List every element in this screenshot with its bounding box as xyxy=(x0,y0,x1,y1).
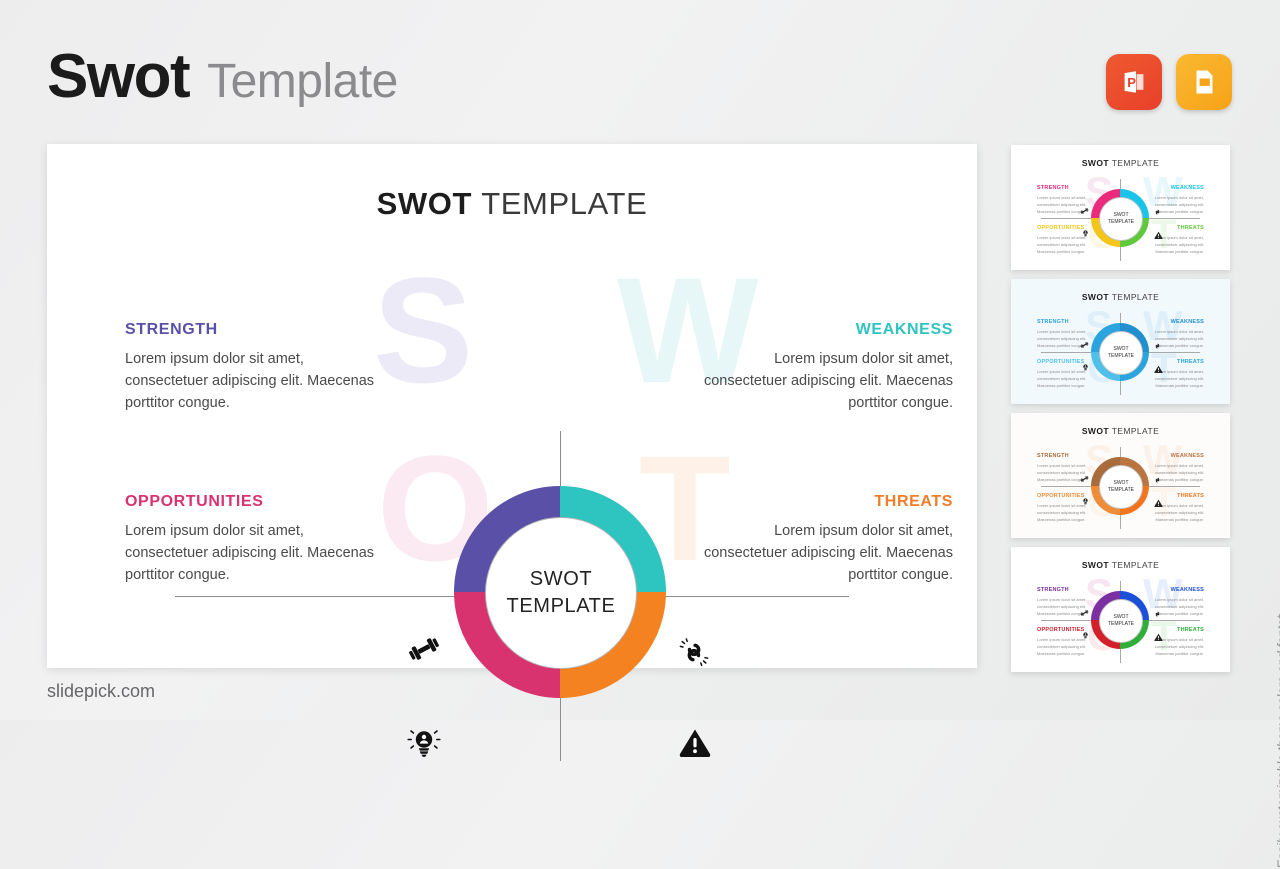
thumbnail-quadrant: WEAKNESSLorem ipsum dolor sit amet, cons… xyxy=(1142,453,1204,483)
thumbnail-quadrant-heading: STRENGTH xyxy=(1037,319,1099,325)
format-icon-group: P xyxy=(1106,54,1232,110)
thumbnail-quadrant-heading: WEAKNESS xyxy=(1142,185,1204,191)
thumbnail-quadrant-heading: STRENGTH xyxy=(1037,185,1099,191)
thumbnail-title: SWOT TEMPLATE xyxy=(1011,560,1230,570)
thumbnail-title-light: TEMPLATE xyxy=(1112,560,1159,570)
thumbnail-icon-w xyxy=(1153,471,1162,489)
page-subtitle: Template xyxy=(207,58,398,106)
quadrant-threats-body: Lorem ipsum dolor sit amet, consectetuer… xyxy=(703,521,953,586)
donut-center-line-1: SWOT xyxy=(530,566,592,593)
thumbnail-slide[interactable]: SWOT TEMPLATESWOTSWOTTEMPLATESTRENGTHLor… xyxy=(1011,145,1230,270)
thumbnail-quadrant-body: Lorem ipsum dolor sit amet, consectetuer… xyxy=(1142,234,1204,255)
thumbnail-quadrant: THREATSLorem ipsum dolor sit amet, conse… xyxy=(1142,225,1204,255)
thumbnail-icon-w xyxy=(1153,337,1162,355)
thumbnail-quadrant-body: Lorem ipsum dolor sit amet, consectetuer… xyxy=(1142,462,1204,483)
thumbnail-donut-label: SWOTTEMPLATE xyxy=(1099,197,1143,241)
thumbnail-title-bold: SWOT xyxy=(1082,560,1109,570)
thumbnail-quadrant: STRENGTHLorem ipsum dolor sit amet, cons… xyxy=(1037,453,1099,483)
thumbnail-donut: SWOTTEMPLATE xyxy=(1091,591,1149,649)
thumbnail-quadrant-body: Lorem ipsum dolor sit amet, consectetuer… xyxy=(1142,636,1204,657)
quadrant-opportunities: OPPORTUNITIES Lorem ipsum dolor sit amet… xyxy=(125,493,375,586)
thumbnail-icon-t xyxy=(1154,226,1163,244)
thumbnail-title-light: TEMPLATE xyxy=(1112,158,1159,168)
thumbnail-quadrant-heading: THREATS xyxy=(1142,493,1204,499)
quadrant-opportunities-heading: OPPORTUNITIES xyxy=(125,493,375,511)
page-header: Swot Template xyxy=(47,46,398,108)
thumbnail-title-bold: SWOT xyxy=(1082,292,1109,302)
thumbnail-quadrant: STRENGTHLorem ipsum dolor sit amet, cons… xyxy=(1037,185,1099,215)
thumbnail-donut: SWOTTEMPLATE xyxy=(1091,323,1149,381)
thumbnail-icon-t xyxy=(1154,494,1163,512)
dumbbell-icon xyxy=(407,634,441,669)
quadrant-threats-heading: THREATS xyxy=(703,493,953,511)
thumbnail-quadrant-body: Lorem ipsum dolor sit amet, consectetuer… xyxy=(1037,596,1099,617)
thumbnail-quadrant-heading: THREATS xyxy=(1142,627,1204,633)
thumbnail-quadrant-heading: THREATS xyxy=(1142,225,1204,231)
customization-note: Easily customizable theme colors and fon… xyxy=(1274,614,1280,868)
thumbnail-slide[interactable]: SWOT TEMPLATESWOTSWOTTEMPLATESTRENGTHLor… xyxy=(1011,547,1230,672)
thumbnail-icon-s xyxy=(1080,336,1089,354)
thumbnail-quadrant-body: Lorem ipsum dolor sit amet, consectetuer… xyxy=(1142,328,1204,349)
thumbnail-quadrant-heading: STRENGTH xyxy=(1037,453,1099,459)
thumbnail-quadrant-body: Lorem ipsum dolor sit amet, consectetuer… xyxy=(1037,328,1099,349)
thumbnail-icon-o xyxy=(1081,225,1090,243)
quadrant-strength: STRENGTH Lorem ipsum dolor sit amet, con… xyxy=(125,321,375,414)
thumbnail-slide[interactable]: SWOT TEMPLATESWOTSWOTTEMPLATESTRENGTHLor… xyxy=(1011,279,1230,404)
thumbnail-quadrant-heading: WEAKNESS xyxy=(1142,319,1204,325)
main-slide-preview[interactable]: SWOT TEMPLATE S W O T SWOT TEMPLATE xyxy=(47,144,977,668)
thumbnail-title-bold: SWOT xyxy=(1082,158,1109,168)
thumbnail-slide[interactable]: SWOT TEMPLATESWOTSWOTTEMPLATESTRENGTHLor… xyxy=(1011,413,1230,538)
thumbnail-icon-w xyxy=(1153,203,1162,221)
thumbnail-quadrant: THREATSLorem ipsum dolor sit amet, conse… xyxy=(1142,493,1204,523)
site-footer: slidepick.com xyxy=(47,681,155,702)
slide-title: SWOT TEMPLATE xyxy=(47,186,977,222)
thumbnail-icon-o xyxy=(1081,627,1090,645)
thumbnail-quadrant: WEAKNESSLorem ipsum dolor sit amet, cons… xyxy=(1142,185,1204,215)
svg-text:P: P xyxy=(1127,75,1136,90)
google-slides-icon[interactable] xyxy=(1176,54,1232,110)
quadrant-threats: THREATS Lorem ipsum dolor sit amet, cons… xyxy=(703,493,953,586)
thumbnail-title-light: TEMPLATE xyxy=(1112,426,1159,436)
quadrant-strength-heading: STRENGTH xyxy=(125,321,375,339)
thumbnail-quadrant-body: Lorem ipsum dolor sit amet, consectetuer… xyxy=(1142,194,1204,215)
quadrant-weakness: WEAKNESS Lorem ipsum dolor sit amet, con… xyxy=(703,321,953,414)
swot-donut-chart: SWOT TEMPLATE xyxy=(454,486,666,698)
swot-diagram: S W O T SWOT TEMPLATE xyxy=(47,249,977,668)
thumbnail-quadrant: STRENGTHLorem ipsum dolor sit amet, cons… xyxy=(1037,587,1099,617)
thumbnail-icon-w xyxy=(1153,605,1162,623)
slide-title-light: TEMPLATE xyxy=(481,186,647,221)
thumbnail-icon-s xyxy=(1080,202,1089,220)
lightbulb-person-icon xyxy=(407,726,441,765)
donut-center-line-2: TEMPLATE xyxy=(507,593,616,620)
thumbnail-icon-t xyxy=(1154,628,1163,646)
thumbnail-title: SWOT TEMPLATE xyxy=(1011,158,1230,168)
thumbnail-icon-t xyxy=(1154,360,1163,378)
quadrant-weakness-body: Lorem ipsum dolor sit amet, consectetuer… xyxy=(703,349,953,414)
thumbnail-quadrant-body: Lorem ipsum dolor sit amet, consectetuer… xyxy=(1142,596,1204,617)
thumbnail-donut-label: SWOTTEMPLATE xyxy=(1099,599,1143,643)
thumbnail-icon-s xyxy=(1080,604,1089,622)
thumbnail-quadrant-body: Lorem ipsum dolor sit amet, consectetuer… xyxy=(1037,462,1099,483)
quadrant-strength-body: Lorem ipsum dolor sit amet, consectetuer… xyxy=(125,349,375,414)
thumbnail-quadrant: THREATSLorem ipsum dolor sit amet, conse… xyxy=(1142,627,1204,657)
thumbnail-quadrant-heading: WEAKNESS xyxy=(1142,587,1204,593)
thumbnail-quadrant: WEAKNESSLorem ipsum dolor sit amet, cons… xyxy=(1142,587,1204,617)
thumbnail-icon-o xyxy=(1081,493,1090,511)
quadrant-weakness-heading: WEAKNESS xyxy=(703,321,953,339)
thumbnail-donut: SWOTTEMPLATE xyxy=(1091,457,1149,515)
slide-title-bold: SWOT xyxy=(377,186,472,221)
thumbnail-quadrant-heading: WEAKNESS xyxy=(1142,453,1204,459)
thumbnail-title: SWOT TEMPLATE xyxy=(1011,426,1230,436)
thumbnail-icon-s xyxy=(1080,470,1089,488)
thumbnail-title-bold: SWOT xyxy=(1082,426,1109,436)
thumbnail-quadrant-body: Lorem ipsum dolor sit amet, consectetuer… xyxy=(1142,368,1204,389)
thumbnail-quadrant-heading: STRENGTH xyxy=(1037,587,1099,593)
thumbnail-donut-label: SWOTTEMPLATE xyxy=(1099,465,1143,509)
thumbnail-quadrant-heading: THREATS xyxy=(1142,359,1204,365)
powerpoint-icon[interactable]: P xyxy=(1106,54,1162,110)
thumbnail-donut: SWOTTEMPLATE xyxy=(1091,189,1149,247)
thumbnail-quadrant: STRENGTHLorem ipsum dolor sit amet, cons… xyxy=(1037,319,1099,349)
thumbnail-icon-o xyxy=(1081,359,1090,377)
donut-center-label: SWOT TEMPLATE xyxy=(485,517,637,669)
thumbnail-list: SWOT TEMPLATESWOTSWOTTEMPLATESTRENGTHLor… xyxy=(1011,145,1230,681)
thumbnail-title-light: TEMPLATE xyxy=(1112,292,1159,302)
thumbnail-quadrant: THREATSLorem ipsum dolor sit amet, conse… xyxy=(1142,359,1204,389)
broken-chain-icon xyxy=(678,637,710,672)
thumbnail-donut-label: SWOTTEMPLATE xyxy=(1099,331,1143,375)
quadrant-opportunities-body: Lorem ipsum dolor sit amet, consectetuer… xyxy=(125,521,375,586)
warning-triangle-icon xyxy=(679,727,711,762)
thumbnail-quadrant: WEAKNESSLorem ipsum dolor sit amet, cons… xyxy=(1142,319,1204,349)
watermark-letter-s: S xyxy=(373,255,473,405)
thumbnail-title: SWOT TEMPLATE xyxy=(1011,292,1230,302)
thumbnail-quadrant-body: Lorem ipsum dolor sit amet, consectetuer… xyxy=(1142,502,1204,523)
page-title: Swot xyxy=(47,46,189,108)
thumbnail-quadrant-body: Lorem ipsum dolor sit amet, consectetuer… xyxy=(1037,194,1099,215)
